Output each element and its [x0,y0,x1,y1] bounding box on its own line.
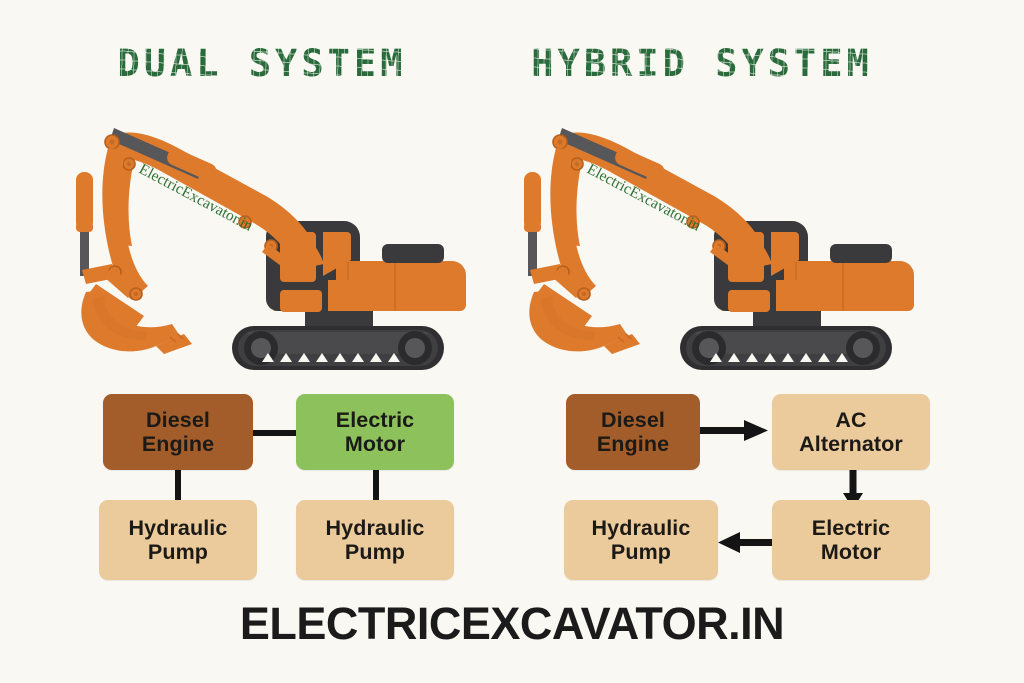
node-label-line2: Pump [129,540,228,564]
node-label-line1: Electric [336,408,415,432]
connector-diesel-to-electric-motor [250,430,298,436]
footer-wordmark: ELECTRICEXCAVATOR.IN [0,598,1024,650]
node-label-line2: Engine [142,432,214,456]
connector-electric-motor-to-hydraulic-pump [373,468,379,502]
panel-title-dual: DUAL SYSTEM [42,42,482,85]
node-label-line1: Hydraulic [129,516,228,540]
node-label-line2: Pump [326,540,425,564]
node-label-line2: Pump [592,540,691,564]
excavator-body [76,128,466,370]
node-diesel-engine-hybrid[interactable]: Diesel Engine [566,394,700,470]
excavator-illustration-dual: ElectricExcavator.in [52,104,502,374]
panel-title-hybrid: HYBRID SYSTEM [482,42,922,85]
connector-diesel-to-hydraulic-pump [175,468,181,502]
arrow-diesel-to-alternator-icon [700,418,770,444]
node-label-line2: Motor [812,540,891,564]
node-hydraulic-pump-dual-right[interactable]: Hydraulic Pump [296,500,454,580]
node-label-line2: Alternator [799,432,903,456]
excavator-illustration-hybrid: ElectricExcavator.in [500,104,950,374]
node-electric-motor-dual[interactable]: Electric Motor [296,394,454,470]
node-electric-motor-hybrid[interactable]: Electric Motor [772,500,930,580]
node-label-line1: Electric [812,516,891,540]
diagram-canvas: DUAL SYSTEM HYBRID SYSTEM [0,0,1024,683]
node-label-line1: Diesel [597,408,669,432]
node-hydraulic-pump-hybrid[interactable]: Hydraulic Pump [564,500,718,580]
node-label-line1: Hydraulic [592,516,691,540]
node-label-line1: AC [799,408,903,432]
excavator-body [524,128,914,370]
node-label-line2: Engine [597,432,669,456]
node-ac-alternator[interactable]: AC Alternator [772,394,930,470]
node-label-line1: Hydraulic [326,516,425,540]
node-label-line1: Diesel [142,408,214,432]
node-label-line2: Motor [336,432,415,456]
node-hydraulic-pump-dual-left[interactable]: Hydraulic Pump [99,500,257,580]
node-diesel-engine-dual[interactable]: Diesel Engine [103,394,253,470]
